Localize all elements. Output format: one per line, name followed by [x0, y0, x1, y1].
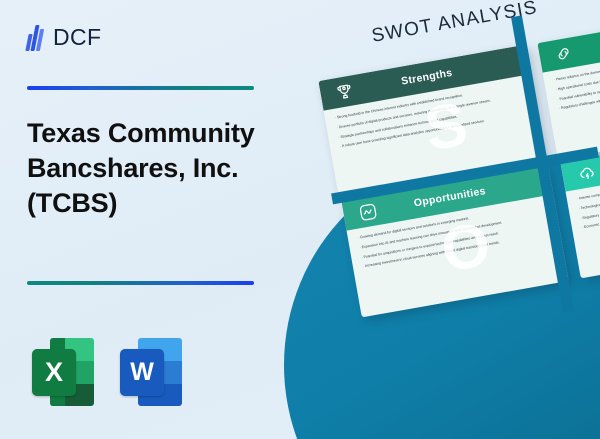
swot-graphic: SWOT ANALYSIS Strengths S	[0, 0, 600, 439]
poster-canvas: DCF Texas Community Bancshares, Inc. (TC…	[0, 0, 600, 439]
swot-card-weaknesses-header: Weaknesses	[537, 7, 600, 73]
list-item: Regulatory pressures and compliance requ…	[580, 183, 600, 220]
swot-card-weaknesses-title: Weaknesses	[577, 16, 600, 58]
swot-card-weaknesses[interactable]: Weaknesses Heavy reliance on the domesti…	[537, 7, 600, 160]
